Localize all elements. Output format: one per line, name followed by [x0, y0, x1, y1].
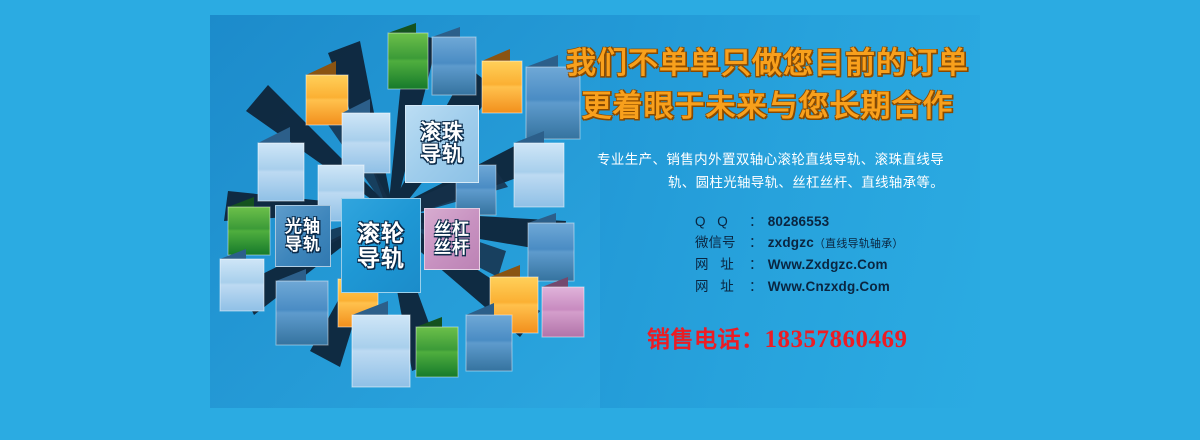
product-tile-sigang-sigan: 丝杠 丝杆 [424, 208, 480, 270]
tile-line-2: 导轨 [285, 236, 321, 254]
contact-label: 网 址 [695, 276, 749, 298]
banner-panel: 滚珠 导轨 光轴 导轨 滚轮 导轨 丝杠 丝杆 我们不单单只做您目前的订单 更着… [210, 15, 980, 408]
tile-line-2: 导轨 [357, 246, 405, 270]
headline-line-2: 更着眼于未来与您长期合作 [555, 86, 980, 129]
contact-label: Q Q [695, 211, 749, 233]
contact-label: 网 址 [695, 254, 749, 276]
tile-line-1: 滚轮 [357, 221, 405, 245]
product-tile-guangzhou-daogui: 光轴 导轨 [275, 205, 331, 267]
contact-value-website-primary[interactable]: Www.Zxdgzc.Com [768, 254, 888, 276]
contact-colon: ： [749, 211, 763, 233]
tile-line-2: 导轨 [420, 144, 464, 166]
contact-row-qq: Q Q ： 80286553 [695, 211, 980, 233]
copy-block: 我们不单单只做您目前的订单 更着眼于未来与您长期合作 专业生产、销售内外置双轴心… [555, 15, 980, 408]
contact-colon: ： [749, 276, 763, 298]
contact-value-wechat[interactable]: zxdgzc [768, 232, 814, 254]
tile-line-2: 丝杆 [434, 239, 470, 257]
tile-line-1: 滚珠 [420, 122, 464, 144]
tile-line-1: 光轴 [285, 218, 321, 236]
contact-note-wechat: （直线导轨轴承） [814, 236, 904, 254]
contact-list: Q Q ： 80286553 微信号 ： zxdgzc （直线导轨轴承） 网 址… [555, 211, 980, 298]
contact-row-website-secondary: 网 址 ： Www.Cnzxdg.Com [695, 276, 980, 298]
contact-value-qq[interactable]: 80286553 [768, 211, 830, 233]
tile-line-1: 丝杠 [434, 221, 470, 239]
sales-phone-number[interactable]: 18357860469 [765, 326, 908, 353]
headline-line-1: 我们不单单只做您目前的订单 [555, 43, 980, 86]
product-tile-gunzhu-daogui: 滚珠 导轨 [405, 105, 479, 183]
company-description: 专业生产、销售内外置双轴心滚轮直线导轨、滚珠直线导轨、圆柱光轴导轨、丝杠丝杆、直… [555, 148, 980, 194]
sales-phone-line: 销售电话：18357860469 [555, 320, 980, 354]
contact-colon: ： [749, 232, 763, 254]
contact-row-wechat: 微信号 ： zxdgzc （直线导轨轴承） [695, 232, 980, 254]
sales-phone-label: 销售电话： [647, 326, 765, 352]
headline: 我们不单单只做您目前的订单 更着眼于未来与您长期合作 [555, 43, 980, 128]
contact-colon: ： [749, 254, 763, 276]
contact-label: 微信号 [695, 232, 749, 254]
contact-row-website-primary: 网 址 ： Www.Zxdgzc.Com [695, 254, 980, 276]
contact-value-website-secondary[interactable]: Www.Cnzxdg.Com [768, 276, 890, 298]
product-tile-gunlun-daogui: 滚轮 导轨 [341, 198, 421, 293]
